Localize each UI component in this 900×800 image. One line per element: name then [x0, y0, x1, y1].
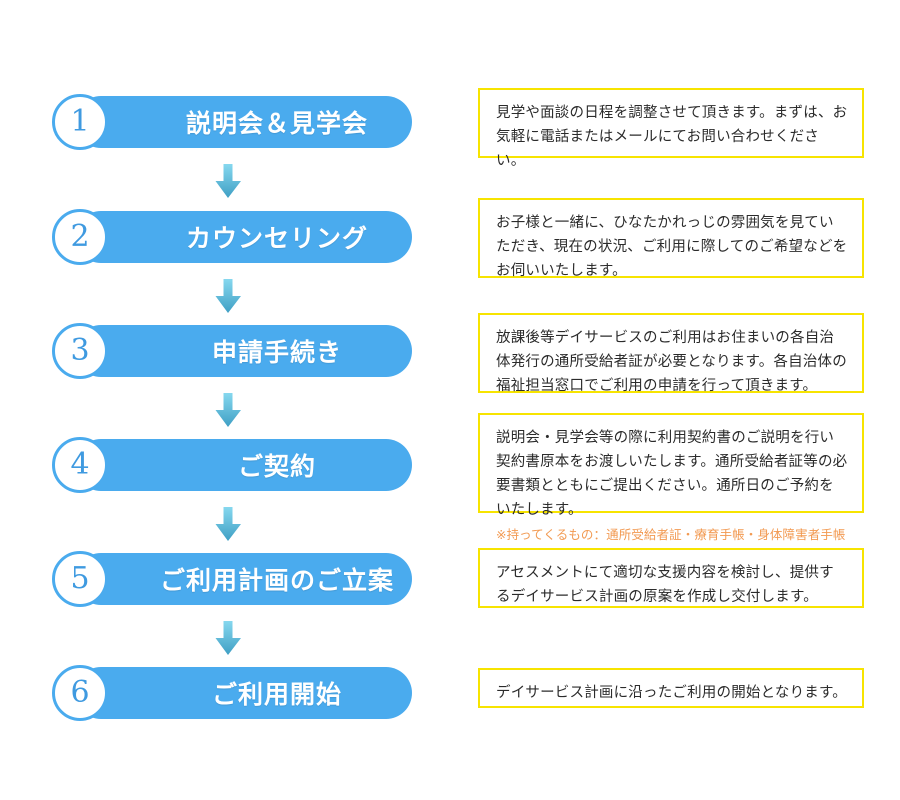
arrow-down-icon [206, 617, 250, 661]
step-number-3: 3 [70, 336, 89, 366]
step-bar-2[interactable]: カウンセリング 2 [52, 209, 412, 265]
step-bar-5[interactable]: ご利用計画のご立案 5 [52, 551, 412, 607]
step-description-text-5: アセスメントにて適切な支援内容を検討し、提供するデイサービス計画の原案を作成し交… [496, 562, 848, 610]
step-description-text-3: 放課後等デイサービスのご利用はお住まいの各自治体発行の通所受給者証が必要となりま… [496, 327, 848, 399]
step-bar-4[interactable]: ご契約 4 [52, 437, 412, 493]
process-flow-diagram: 説明会＆見学会 1 見学や面談の日程を調整させて頂きます。まずは、お気軽に電話ま… [0, 0, 900, 800]
step-number-badge-4: 4 [52, 437, 108, 493]
arrow-down-icon [206, 275, 250, 319]
step-number-2: 2 [70, 222, 89, 252]
step-number-badge-2: 2 [52, 209, 108, 265]
arrow-down-icon [206, 160, 250, 204]
step-description-box-3: 放課後等デイサービスのご利用はお住まいの各自治体発行の通所受給者証が必要となりま… [478, 313, 864, 393]
step-number-badge-5: 5 [52, 551, 108, 607]
step-number-6: 6 [70, 678, 89, 708]
step-label-5: ご利用計画のご立案 [142, 551, 412, 607]
step-number-badge-6: 6 [52, 665, 108, 721]
step-description-text-2: お子様と一緒に、ひなたかれっじの雰囲気を見ていただき、現在の状況、ご利用に際して… [496, 212, 848, 284]
step-description-text-4: 説明会・見学会等の際に利用契約書のご説明を行い契約書原本をお渡しいたします。通所… [496, 427, 848, 523]
step-bar-3[interactable]: 申請手続き 3 [52, 323, 412, 379]
step-number-5: 5 [70, 564, 89, 594]
arrow-down-icon [206, 503, 250, 547]
step-bar-6[interactable]: ご利用開始 6 [52, 665, 412, 721]
step-description-text-6: デイサービス計画に沿ったご利用の開始となります。 [496, 682, 848, 706]
step-description-box-5: アセスメントにて適切な支援内容を検討し、提供するデイサービス計画の原案を作成し交… [478, 548, 864, 608]
step-description-box-2: お子様と一緒に、ひなたかれっじの雰囲気を見ていただき、現在の状況、ご利用に際して… [478, 198, 864, 278]
step-number-badge-1: 1 [52, 94, 108, 150]
step-description-note-4: ※持ってくるもの：通所受給者証・療育手帳・身体障害者手帳 [496, 525, 848, 545]
arrow-down-icon [206, 389, 250, 433]
step-label-4: ご契約 [142, 437, 412, 493]
step-number-4: 4 [70, 450, 89, 480]
step-description-box-4: 説明会・見学会等の際に利用契約書のご説明を行い契約書原本をお渡しいたします。通所… [478, 413, 864, 513]
step-label-6: ご利用開始 [142, 665, 412, 721]
step-label-2: カウンセリング [142, 209, 412, 265]
step-label-3: 申請手続き [142, 323, 412, 379]
step-description-box-1: 見学や面談の日程を調整させて頂きます。まずは、お気軽に電話またはメールにてお問い… [478, 88, 864, 158]
step-description-text-1: 見学や面談の日程を調整させて頂きます。まずは、お気軽に電話またはメールにてお問い… [496, 102, 848, 174]
step-number-badge-3: 3 [52, 323, 108, 379]
step-number-1: 1 [70, 107, 89, 137]
step-description-box-6: デイサービス計画に沿ったご利用の開始となります。 [478, 668, 864, 708]
step-bar-1[interactable]: 説明会＆見学会 1 [52, 94, 412, 150]
step-label-1: 説明会＆見学会 [142, 94, 412, 150]
